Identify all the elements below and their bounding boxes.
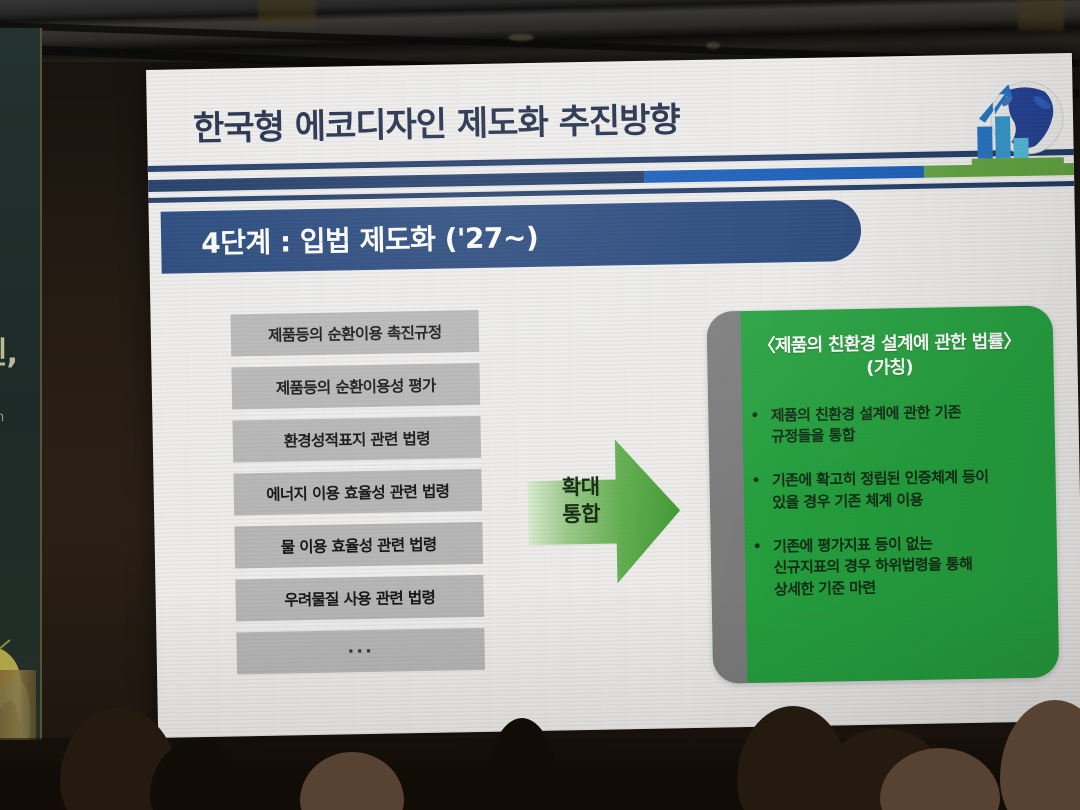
- expand-integrate-arrow: 확대 통합: [523, 432, 686, 591]
- projection-screen: 한국형 에코디자인 제도화 추진방향: [146, 53, 1080, 738]
- stage-bar: 4단계 : 입법 제도화 ('27~): [161, 199, 862, 274]
- result-bullet: • 기존에 확고히 정립된 인증체계 등이 있을 경우 기존 체계 이용: [751, 466, 1040, 515]
- bullet-marker-icon: •: [750, 405, 759, 449]
- result-bullet-list: • 제품의 친환경 설계에 관한 기존 규정들을 통합 • 기존에 확고히 정립…: [742, 400, 1042, 602]
- ceiling-light-icon: [508, 34, 534, 41]
- banner-text-top: 신,: [0, 328, 17, 372]
- result-bullet: • 기존에 평가지표 등이 없는 신규지표의 경우 하위법령을 통해 상세한 기…: [753, 531, 1042, 602]
- result-panel-heading: 〈제품의 친환경 설계에 관한 법률〉 (가칭): [741, 330, 1038, 384]
- law-item: 제품등의 순환이용 촉진규정: [230, 310, 479, 357]
- slide: 한국형 에코디자인 제도화 추진방향: [146, 53, 1080, 738]
- stage-label: 4단계 : 입법 제도화 ('27~): [161, 216, 539, 263]
- arrow-label-line2: 통합: [546, 500, 616, 528]
- slide-title: 한국형 에코디자인 제도화 추진방향: [193, 92, 681, 150]
- bullet-text: 기존에 평가지표 등이 없는 신규지표의 경우 하위법령을 통해 상세한 기준 …: [773, 533, 973, 602]
- ceiling: [0, 0, 1080, 62]
- bullet-text: 기존에 확고히 정립된 인증체계 등이 있을 경우 기존 체계 이용: [772, 467, 989, 514]
- band-segment-blue: [644, 166, 924, 183]
- ceiling-fixture: [258, 0, 316, 26]
- banner-text-bottom: on: [0, 410, 4, 425]
- result-heading-line2: (가칭): [741, 354, 1037, 384]
- law-item: 물 이용 효율성 관련 법령: [234, 522, 483, 569]
- arrow-label-line1: 확대: [545, 473, 615, 501]
- foreground-shadow: [0, 738, 1080, 810]
- law-item: 제품등의 순환이용성 평가: [231, 363, 480, 410]
- globe-growth-icon: [968, 71, 1066, 177]
- arrow-label: 확대 통합: [545, 473, 616, 528]
- result-bullet: • 제품의 친환경 설계에 관한 기존 규정들을 통합: [750, 400, 1039, 449]
- conference-photo: 신, on 한국형 에코디자인 제도화 추진방향: [0, 0, 1080, 810]
- law-item: 우려물질 사용 관련 법령: [235, 575, 484, 622]
- result-panel-content: 〈제품의 친환경 설계에 관한 법률〉 (가칭) • 제품의 친환경 설계에 관…: [707, 305, 1060, 683]
- banner-base: [0, 670, 36, 740]
- bullet-text: 제품의 친환경 설계에 관한 기존 규정들을 통합: [771, 402, 962, 449]
- ceiling-fixture: [1018, 0, 1064, 30]
- law-item: 환경성적표지 관련 법령: [232, 416, 481, 463]
- law-list: 제품등의 순환이용 촉진규정 제품등의 순환이용성 평가 환경성적표지 관련 법…: [230, 310, 485, 674]
- bullet-marker-icon: •: [751, 471, 760, 515]
- law-item: 에너지 이용 효율성 관련 법령: [233, 469, 482, 516]
- ceiling-light-icon: [706, 42, 720, 49]
- bullet-marker-icon: •: [753, 536, 763, 601]
- standing-banner: 신, on: [0, 28, 42, 740]
- band-segment-navy: [148, 171, 644, 192]
- law-item-ellipsis: ···: [236, 628, 485, 675]
- result-panel: 〈제품의 친환경 설계에 관한 법률〉 (가칭) • 제품의 친환경 설계에 관…: [707, 305, 1060, 683]
